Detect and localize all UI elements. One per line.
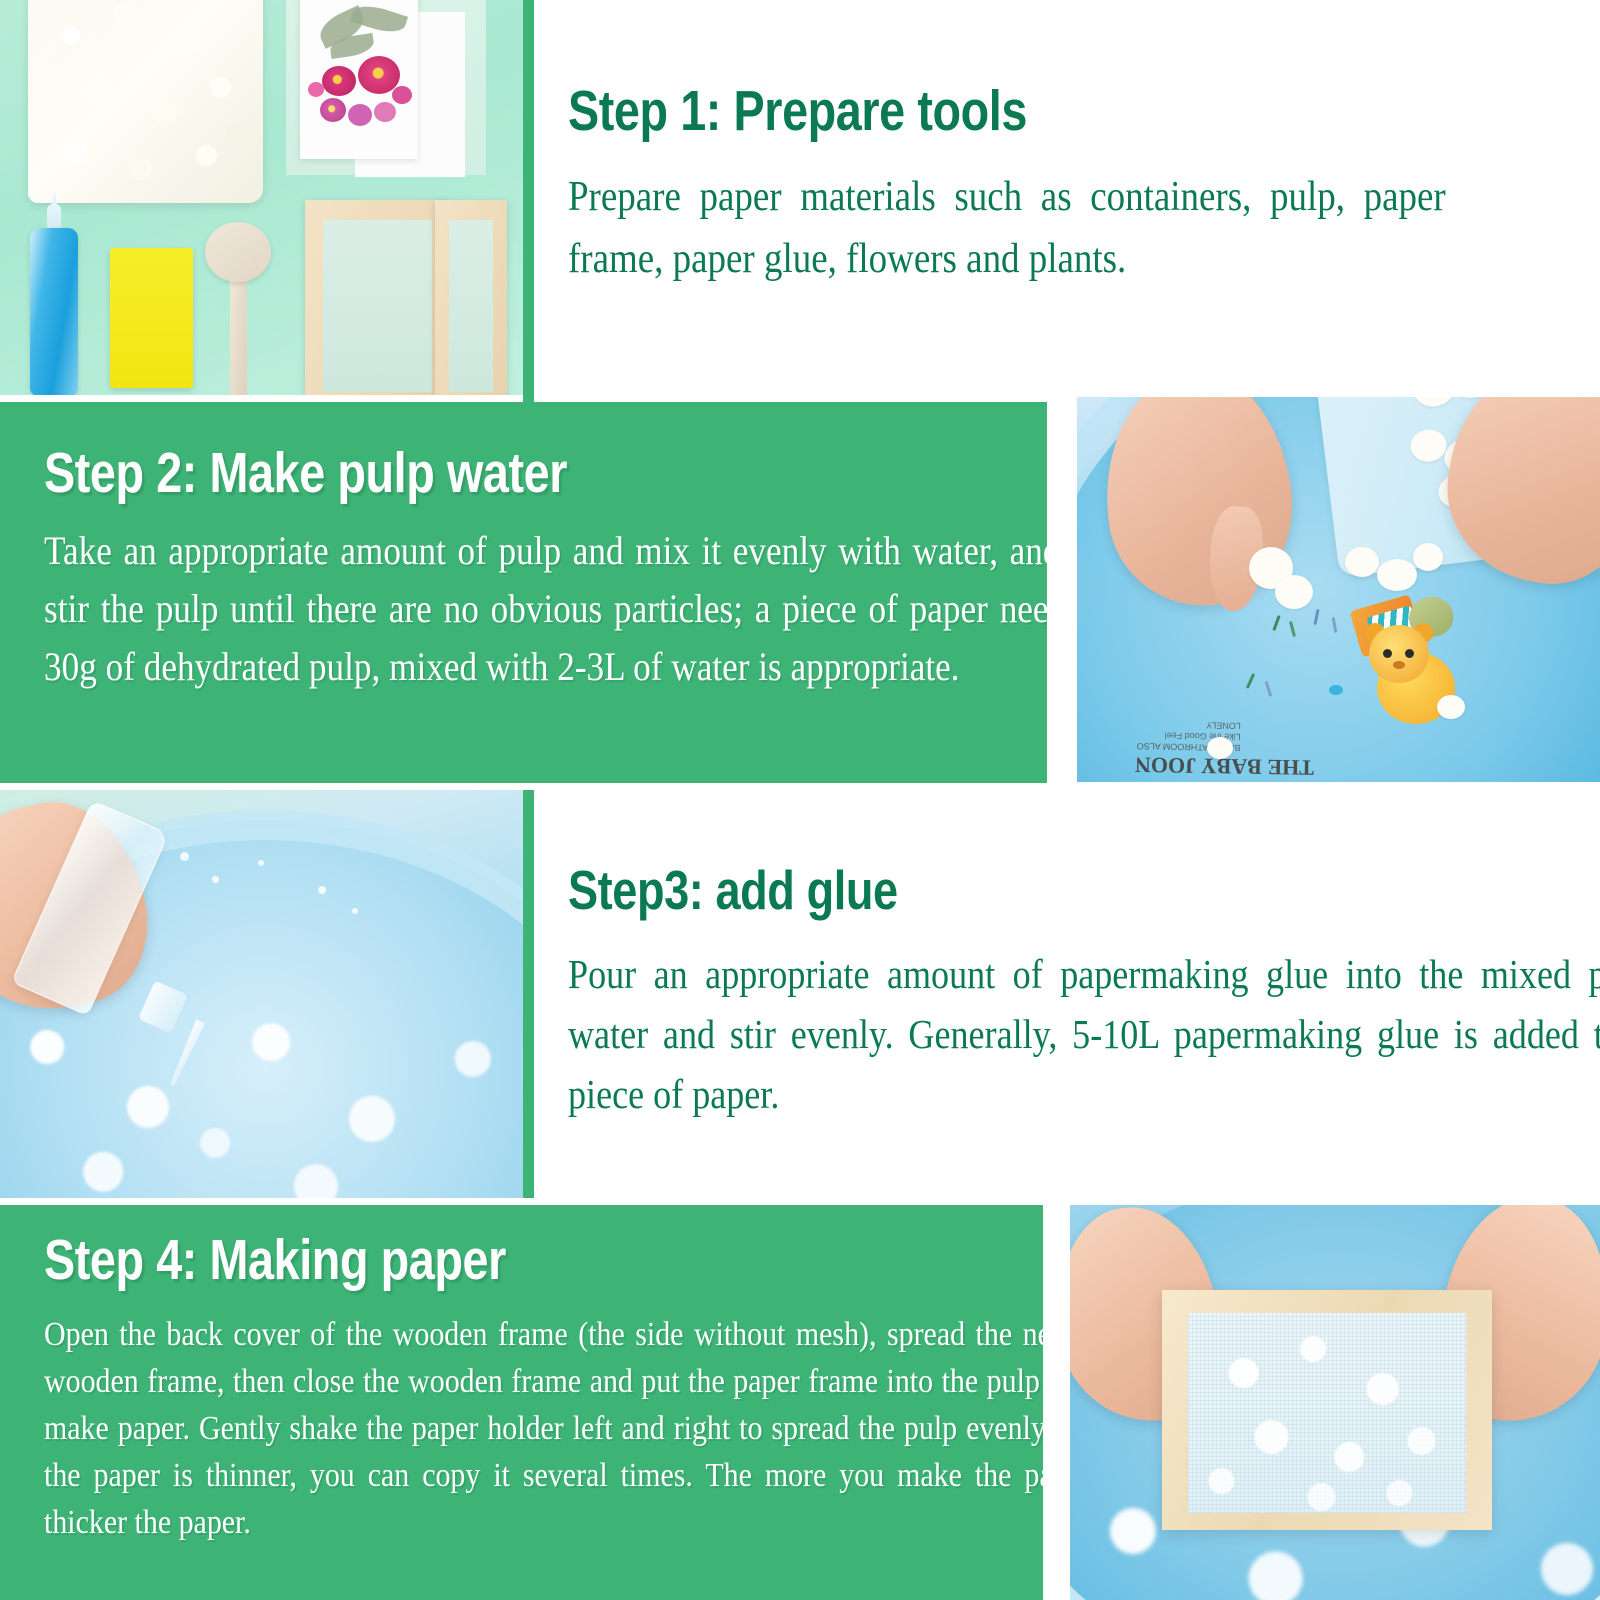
step-4-photo xyxy=(1070,1205,1600,1600)
step-3-text-block: Step3: add glue Pour an appropriate amou… xyxy=(568,858,1578,1124)
spoon-bowl xyxy=(205,222,271,282)
step-2-panel: Step 2: Make pulp water Take an appropri… xyxy=(0,402,1047,783)
step-1-text-block: Step 1: Prepare tools Prepare paper mate… xyxy=(568,78,1568,290)
cartoon-lion-head xyxy=(1369,625,1429,683)
step-2-body: Take an appropriate amount of pulp and m… xyxy=(44,522,1047,696)
wooden-frame-right xyxy=(435,200,507,395)
step-1-heading: Step 1: Prepare tools xyxy=(568,78,1388,144)
pressed-flower-sheet xyxy=(300,0,418,159)
step-2-heading: Step 2: Make pulp water xyxy=(44,440,848,506)
step-3-heading: Step3: add glue xyxy=(568,858,1396,922)
spoon-handle xyxy=(230,272,247,395)
glue-bottle xyxy=(30,228,78,395)
infographic-page: Step 1: Prepare tools Prepare paper mate… xyxy=(0,0,1600,1600)
pulp-on-mesh xyxy=(1188,1313,1466,1513)
wooden-frame-left xyxy=(305,200,450,395)
accent-bar-step-3 xyxy=(523,790,534,1198)
step-3-photo xyxy=(0,790,523,1198)
step-1-body: Prepare paper materials such as containe… xyxy=(568,166,1446,290)
step-4-panel: Step 4: Making paper Open the back cover… xyxy=(0,1205,1043,1600)
step-4-body: Open the back cover of the wooden frame … xyxy=(44,1311,1043,1546)
step-1-photo xyxy=(0,0,523,395)
step-3-body: Pour an appropriate amount of papermakin… xyxy=(568,944,1600,1124)
accent-bar-step-1 xyxy=(523,0,534,405)
yellow-sponge xyxy=(110,248,193,388)
step-2-photo: BABY BATHROOM ALSO Like the Good Feel LO… xyxy=(1077,397,1600,782)
pulp-bag xyxy=(28,0,263,203)
step-4-heading: Step 4: Making paper xyxy=(44,1227,848,1293)
